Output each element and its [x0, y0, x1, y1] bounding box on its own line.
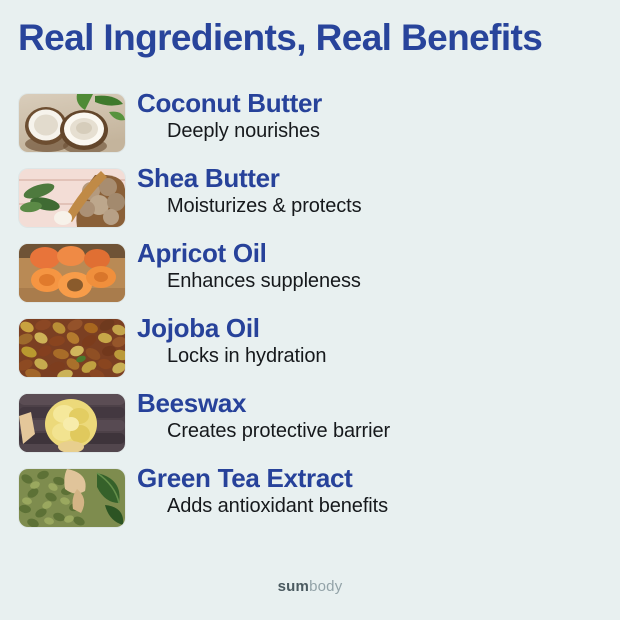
brand-logo-secondary: body	[309, 578, 342, 595]
beeswax-flakes-photo	[19, 394, 125, 452]
green-tea-leaves-photo	[19, 469, 125, 527]
ingredient-benefit: Deeply nourishes	[167, 119, 614, 144]
ingredient-name: Shea Butter	[137, 163, 614, 194]
list-item-text: Shea Butter Moisturizes & protects	[137, 163, 614, 219]
apricot-halves-photo	[19, 244, 125, 302]
ingredient-benefit: Enhances suppleness	[167, 269, 614, 294]
ingredient-benefit: Creates protective barrier	[167, 419, 614, 444]
ingredients-poster: Real Ingredients, Real Benefits	[0, 0, 620, 620]
list-item-text: Beeswax Creates protective barrier	[137, 388, 614, 444]
list-item: Jojoba Oil Locks in hydration	[0, 313, 620, 388]
ingredient-name: Jojoba Oil	[137, 313, 614, 344]
list-item: Apricot Oil Enhances suppleness	[0, 238, 620, 313]
ingredient-name: Beeswax	[137, 388, 614, 419]
page-title: Real Ingredients, Real Benefits	[18, 16, 608, 60]
list-item: Coconut Butter Deeply nourishes	[0, 88, 620, 163]
list-item: Green Tea Extract Adds antioxidant benef…	[0, 463, 620, 538]
list-item-text: Coconut Butter Deeply nourishes	[137, 88, 614, 144]
brand-logo: sumbody	[0, 578, 620, 595]
ingredient-benefit: Adds antioxidant benefits	[167, 494, 614, 519]
brand-logo-primary: sum	[278, 578, 309, 595]
shea-nuts-photo	[19, 169, 125, 227]
jojoba-seeds-photo	[19, 319, 125, 377]
ingredient-benefit: Locks in hydration	[167, 344, 614, 369]
list-item-text: Green Tea Extract Adds antioxidant benef…	[137, 463, 614, 519]
ingredient-name: Green Tea Extract	[137, 463, 614, 494]
ingredients-list: Coconut Butter Deeply nourishes	[0, 88, 620, 538]
coconut-halves-photo	[19, 94, 125, 152]
list-item: Shea Butter Moisturizes & protects	[0, 163, 620, 238]
ingredient-name: Coconut Butter	[137, 88, 614, 119]
ingredient-name: Apricot Oil	[137, 238, 614, 269]
list-item-text: Apricot Oil Enhances suppleness	[137, 238, 614, 294]
list-item-text: Jojoba Oil Locks in hydration	[137, 313, 614, 369]
ingredient-benefit: Moisturizes & protects	[167, 194, 614, 219]
list-item: Beeswax Creates protective barrier	[0, 388, 620, 463]
